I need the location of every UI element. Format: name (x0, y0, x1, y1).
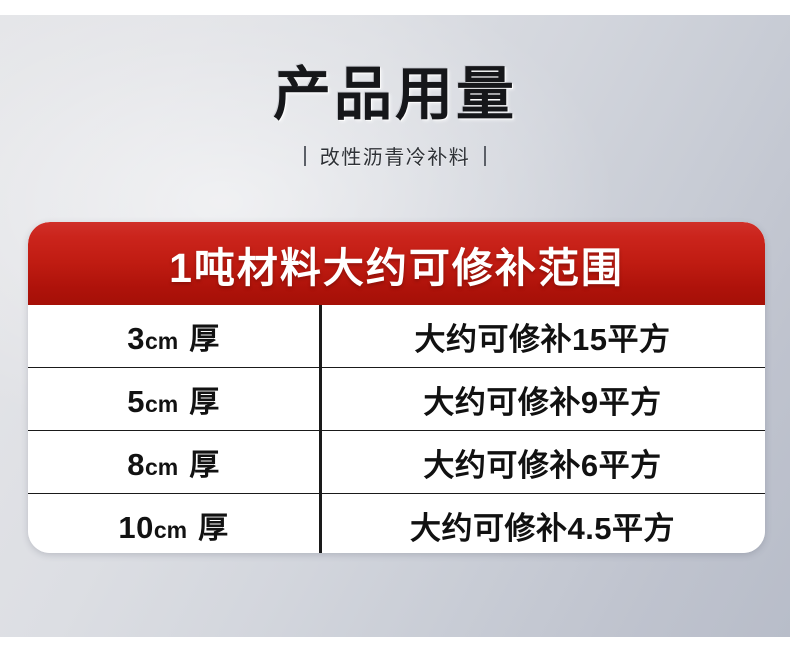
thickness-label: 厚 (198, 512, 229, 545)
thickness-text: 3cm厚 (127, 314, 220, 358)
thickness-text: 10cm厚 (118, 503, 228, 547)
thickness-label: 厚 (189, 323, 220, 356)
table-row: 10cm厚 大约可修补4.5平方 (28, 494, 765, 553)
card-banner: 1吨材料大约可修补范围 (28, 222, 765, 305)
thickness-text: 5cm厚 (127, 377, 220, 421)
coverage-text: 大约可修补9平方 (423, 377, 661, 422)
coverage-cell: 大约可修补15平方 (320, 305, 765, 367)
thickness-value: 3 (127, 321, 145, 356)
thickness-value: 8 (127, 447, 145, 482)
thickness-text: 8cm厚 (127, 440, 220, 484)
table-row: 5cm厚 大约可修补9平方 (28, 368, 765, 431)
header-block: 产品用量 改性沥青冷补料 (0, 66, 790, 170)
thickness-cell: 5cm厚 (28, 368, 320, 430)
coverage-text: 大约可修补4.5平方 (410, 503, 675, 548)
product-usage-infographic: 产品用量 改性沥青冷补料 1吨材料大约可修补范围 3cm厚 大约可修补15平方 (0, 0, 790, 651)
page-title: 产品用量 (0, 66, 790, 124)
coverage-text: 大约可修补15平方 (415, 314, 671, 359)
subtitle-right-bar-icon (484, 146, 486, 166)
subtitle-row: 改性沥青冷补料 (0, 141, 790, 170)
thickness-label: 厚 (189, 449, 220, 482)
table-column-divider (320, 305, 322, 553)
table-row: 3cm厚 大约可修补15平方 (28, 305, 765, 368)
coverage-text: 大约可修补6平方 (423, 440, 661, 485)
thickness-unit: cm (145, 391, 178, 417)
subtitle-left-bar-icon (304, 146, 306, 166)
coverage-card: 1吨材料大约可修补范围 3cm厚 大约可修补15平方 5cm厚 大约可修补9平方 (28, 222, 765, 553)
banner-title: 1吨材料大约可修补范围 (169, 234, 624, 294)
thickness-unit: cm (145, 328, 178, 354)
table-row: 8cm厚 大约可修补6平方 (28, 431, 765, 494)
thickness-value: 10 (118, 510, 153, 545)
page-subtitle: 改性沥青冷补料 (320, 141, 471, 170)
thickness-cell: 10cm厚 (28, 494, 320, 553)
coverage-cell: 大约可修补4.5平方 (320, 494, 765, 553)
thickness-value: 5 (127, 384, 145, 419)
thickness-unit: cm (154, 517, 187, 543)
thickness-cell: 3cm厚 (28, 305, 320, 367)
coverage-cell: 大约可修补6平方 (320, 431, 765, 493)
thickness-unit: cm (145, 454, 178, 480)
coverage-table: 3cm厚 大约可修补15平方 5cm厚 大约可修补9平方 8cm厚 (28, 305, 765, 553)
coverage-cell: 大约可修补9平方 (320, 368, 765, 430)
thickness-label: 厚 (189, 386, 220, 419)
thickness-cell: 8cm厚 (28, 431, 320, 493)
